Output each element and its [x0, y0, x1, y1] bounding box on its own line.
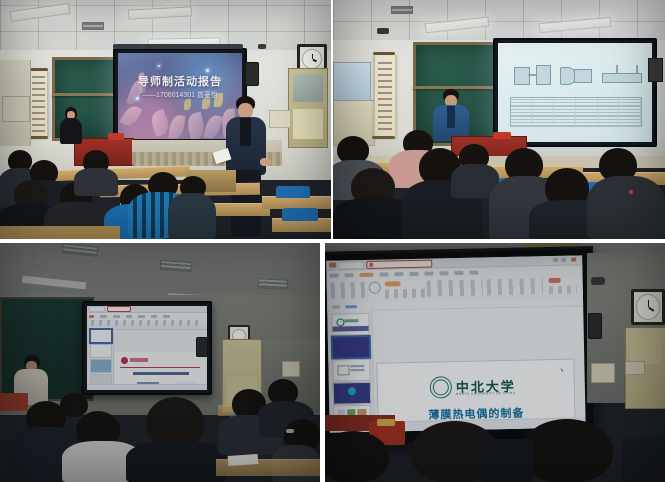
divider — [120, 367, 200, 368]
wall-speaker — [196, 337, 208, 357]
statusbar — [87, 384, 207, 390]
ceiling-vent — [82, 22, 104, 30]
wall-notice — [591, 363, 615, 383]
ceiling-vent — [391, 6, 413, 14]
presenter-hand — [260, 158, 271, 166]
slide-thumbnail-pane[interactable] — [327, 310, 374, 423]
presenter-collar — [447, 106, 455, 128]
app-titlebar — [87, 306, 207, 313]
security-camera — [377, 28, 389, 34]
wall-notice — [282, 361, 300, 377]
slide-subtitle: ——1706014301 曾豪怡 — [118, 90, 242, 100]
foreground-desk — [0, 226, 120, 239]
audience-body — [621, 439, 665, 482]
badge-dot — [629, 190, 633, 194]
calligraphy-scroll — [374, 55, 396, 137]
photo-bottom-right: 中北大学 NORTH UNIVERSITY OF CHINA 薄膜热电偶的制备 … — [325, 243, 665, 482]
slide-thumbnail[interactable] — [90, 329, 112, 343]
scroll-calligraphy — [378, 62, 392, 131]
cursor-icon — [560, 368, 563, 373]
university-logo-icon — [121, 357, 128, 364]
maximize-icon[interactable] — [561, 258, 566, 262]
cabinet-door — [288, 68, 328, 148]
board-rail — [52, 93, 120, 96]
podium — [0, 393, 28, 411]
ribbon-tab[interactable] — [329, 273, 338, 277]
slide-table — [510, 97, 642, 127]
ceiling-vent — [258, 278, 288, 290]
wall-notice — [625, 361, 645, 375]
notebook — [228, 454, 259, 466]
calligraphy-scroll — [29, 71, 48, 137]
editing-group[interactable] — [549, 285, 577, 294]
font-group[interactable] — [385, 289, 425, 299]
university-name — [130, 358, 148, 362]
photo-bottom-left — [0, 243, 320, 482]
cabinet-panel — [2, 96, 30, 122]
presenter-collar — [240, 118, 251, 146]
slide-thumbnail[interactable] — [332, 359, 370, 382]
clipboard-group[interactable] — [331, 282, 365, 299]
audience-body — [168, 193, 216, 239]
podium-item — [108, 133, 124, 140]
slide-technical — [498, 43, 652, 142]
br-scene: 中北大学 NORTH UNIVERSITY OF CHINA 薄膜热电偶的制备 … — [325, 243, 665, 482]
audience-head — [60, 393, 88, 417]
university-name-en: NORTH UNIVERSITY OF CHINA — [456, 391, 516, 396]
slide-title: 导师制活动报告 — [118, 73, 242, 89]
wall-notice — [269, 110, 291, 128]
security-camera — [258, 44, 266, 49]
audience-body — [587, 176, 665, 239]
ribbon-tab[interactable] — [424, 271, 433, 275]
wall-speaker — [245, 62, 259, 86]
ribbon-tab-selected[interactable] — [359, 272, 373, 276]
audience-head — [521, 419, 613, 482]
photo-top-left: 导师制活动报告 ——1706014301 曾豪怡 — [0, 0, 331, 239]
paragraph-group[interactable] — [427, 279, 483, 296]
slide-thumbnail-pane[interactable] — [87, 326, 114, 386]
ribbon-tab[interactable] — [439, 271, 448, 275]
tab-chip-active[interactable] — [107, 306, 131, 312]
clock-face — [636, 294, 660, 320]
close-icon[interactable] — [571, 258, 576, 262]
ppt-app-window — [87, 306, 207, 390]
audience-body — [481, 439, 533, 482]
tab-chip[interactable] — [89, 306, 105, 312]
tr-scene — [333, 0, 665, 239]
ribbon-tab[interactable] — [469, 270, 478, 274]
podium-item — [377, 419, 395, 426]
slide-thumbnail[interactable] — [333, 382, 371, 405]
podium-item — [493, 132, 511, 139]
audience-head — [325, 431, 389, 482]
share-button[interactable] — [549, 278, 561, 283]
ppt-app-window: 中北大学 NORTH UNIVERSITY OF CHINA 薄膜热电偶的制备 … — [326, 255, 586, 432]
chair — [282, 208, 318, 221]
chair — [276, 186, 310, 198]
person-body — [60, 118, 82, 144]
slide-thumbnail-selected[interactable] — [332, 336, 370, 359]
slide-title — [133, 372, 189, 375]
ribbon-tab[interactable] — [454, 270, 463, 274]
ribbon-tab[interactable] — [394, 272, 403, 276]
audience-body — [74, 168, 118, 196]
ribbon-tab[interactable] — [344, 273, 353, 277]
slide-thumbnail[interactable] — [90, 359, 112, 373]
drawing-group[interactable] — [487, 278, 543, 295]
tl-scene: 导师制活动报告 ——1706014301 曾豪怡 — [0, 0, 331, 239]
slide-tutor-report: 导师制活动报告 ——1706014301 曾豪怡 — [118, 53, 242, 139]
tab-chip[interactable] — [338, 260, 364, 269]
projection-screen — [493, 38, 657, 147]
wall-speaker — [588, 313, 602, 339]
wall-box — [648, 58, 663, 82]
photo-top-right — [333, 0, 665, 239]
projection-screen — [82, 301, 212, 395]
ribbon-tab[interactable] — [409, 271, 418, 275]
screen-valance — [113, 44, 243, 49]
minimize-icon[interactable] — [553, 258, 558, 262]
scroll-rod — [372, 136, 395, 139]
wall-clock — [631, 289, 665, 325]
slide-thumbnail[interactable] — [90, 344, 112, 358]
ribbon-tab-strip[interactable] — [329, 267, 579, 277]
ribbon-tab[interactable] — [379, 272, 388, 276]
university-logo-icon — [430, 376, 452, 398]
ceiling-vent — [160, 260, 193, 272]
tab-chip-active[interactable] — [366, 259, 432, 268]
security-camera — [591, 277, 605, 285]
audience-body — [126, 441, 226, 482]
layout-button[interactable] — [385, 281, 401, 286]
photo-collage: 导师制活动报告 ——1706014301 曾豪怡 — [0, 0, 665, 482]
scroll-calligraphy — [32, 76, 44, 131]
bl-scene — [0, 243, 320, 482]
app-logo-icon — [329, 263, 336, 268]
eyeglasses-icon — [286, 429, 294, 433]
new-slide-icon[interactable] — [369, 282, 381, 294]
clock-face — [302, 49, 322, 69]
slide-thumbnail[interactable] — [331, 313, 369, 336]
